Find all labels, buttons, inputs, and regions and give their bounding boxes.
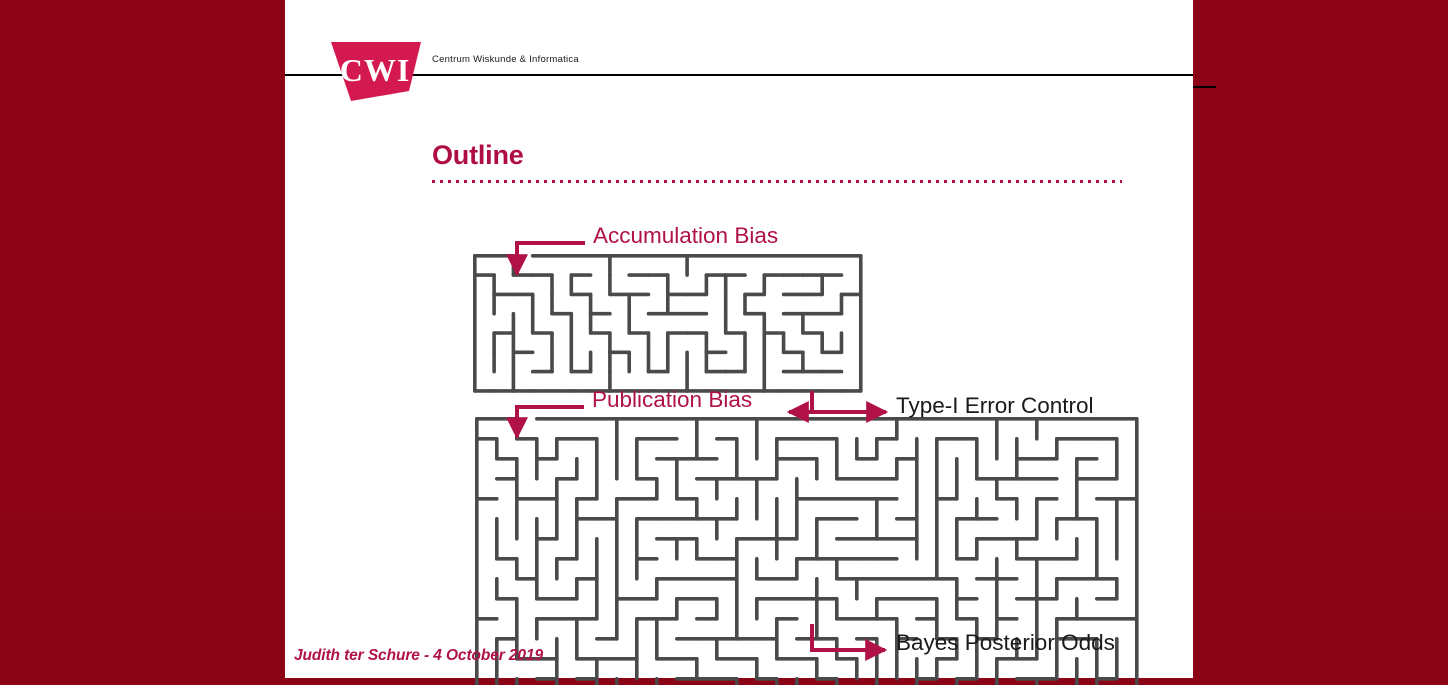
svg-text:CWI: CWI: [340, 52, 411, 88]
label-publication-bias: Publication Bias: [592, 387, 752, 413]
title-dotted-underline: [432, 180, 1122, 183]
page-title: Outline: [432, 140, 524, 171]
cwi-tagline: Centrum Wiskunde & Informatica: [432, 54, 579, 65]
slide-footer: Judith ter Schure - 4 October 2019: [294, 647, 543, 665]
header-divider-rule: [285, 74, 1193, 76]
label-bayes-posterior-odds: Bayes Posterior Odds: [896, 630, 1115, 656]
presentation-slide: CWI Centrum Wiskunde & Informatica Outli…: [285, 0, 1193, 678]
label-type-i-error-control: Type-I Error Control: [896, 393, 1094, 419]
label-accumulation-bias: Accumulation Bias: [593, 223, 778, 249]
projector-edge-artifact: [1193, 86, 1216, 88]
maze-accumulation: [473, 254, 863, 393]
cwi-logo: CWI: [313, 42, 421, 101]
